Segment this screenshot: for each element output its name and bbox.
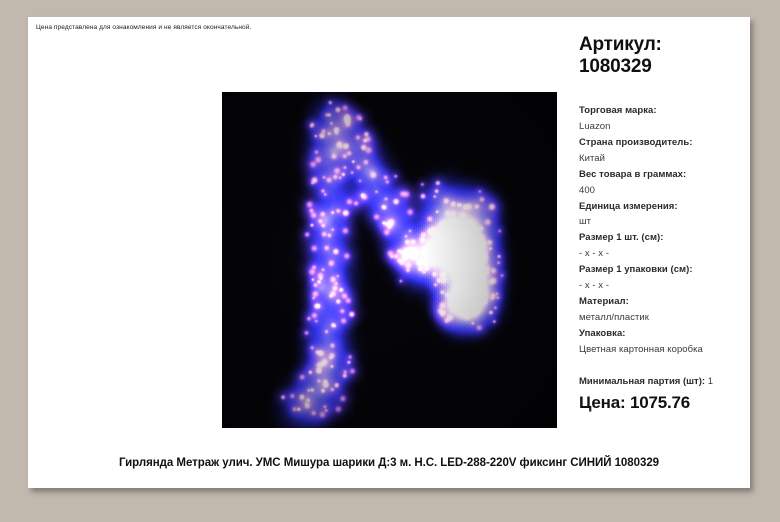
spec-row: Единица измерения:шт bbox=[579, 199, 749, 231]
product-info-column: Артикул: 1080329 Торговая марка:LuazonСт… bbox=[579, 34, 749, 413]
spec-value: Luazon bbox=[579, 119, 749, 135]
spec-row: Размер 1 шт. (см):- x - x - bbox=[579, 230, 749, 262]
minimum-batch-label: Минимальная партия (шт): bbox=[579, 376, 705, 387]
spec-value: Цветная картонная коробка bbox=[579, 342, 749, 358]
spec-label: Материал: bbox=[579, 294, 749, 310]
spec-label: Торговая марка: bbox=[579, 103, 749, 119]
spec-label: Упаковка: bbox=[579, 326, 749, 342]
led-garland-image bbox=[222, 92, 557, 428]
spec-row: Размер 1 упаковки (см):- x - x - bbox=[579, 262, 749, 294]
spec-row: Страна производитель:Китай bbox=[579, 135, 749, 167]
minimum-batch-value: 1 bbox=[708, 376, 713, 387]
price-disclaimer: Цена представлена для ознакомления и не … bbox=[36, 24, 251, 31]
product-title: Гирлянда Метраж улич. УМС Мишура шарики … bbox=[28, 457, 750, 469]
product-photo bbox=[222, 92, 557, 428]
minimum-batch-row: Минимальная партия (шт): 1 bbox=[579, 376, 749, 387]
spec-value: - x - x - bbox=[579, 246, 749, 262]
price-value: Цена: 1075.76 bbox=[579, 393, 749, 413]
sku-label: Артикул: bbox=[579, 34, 749, 56]
specification-list: Торговая марка:LuazonСтрана производител… bbox=[579, 103, 749, 358]
spec-value: 400 bbox=[579, 183, 749, 199]
spec-label: Страна производитель: bbox=[579, 135, 749, 151]
sku-value: 1080329 bbox=[579, 56, 749, 78]
spec-label: Размер 1 упаковки (см): bbox=[579, 262, 749, 278]
spec-row: Торговая марка:Luazon bbox=[579, 103, 749, 135]
spec-value: - x - x - bbox=[579, 278, 749, 294]
spec-label: Единица измерения: bbox=[579, 199, 749, 215]
spec-value: шт bbox=[579, 214, 749, 230]
spec-row: Упаковка:Цветная картонная коробка bbox=[579, 326, 749, 358]
spec-label: Размер 1 шт. (см): bbox=[579, 230, 749, 246]
sku-block: Артикул: 1080329 bbox=[579, 34, 749, 79]
product-page-sheet: Цена представлена для ознакомления и не … bbox=[28, 17, 750, 488]
spec-label: Вес товара в граммах: bbox=[579, 167, 749, 183]
spec-value: металл/пластик bbox=[579, 310, 749, 326]
spec-row: Вес товара в граммах:400 bbox=[579, 167, 749, 199]
spec-value: Китай bbox=[579, 151, 749, 167]
spec-row: Материал:металл/пластик bbox=[579, 294, 749, 326]
